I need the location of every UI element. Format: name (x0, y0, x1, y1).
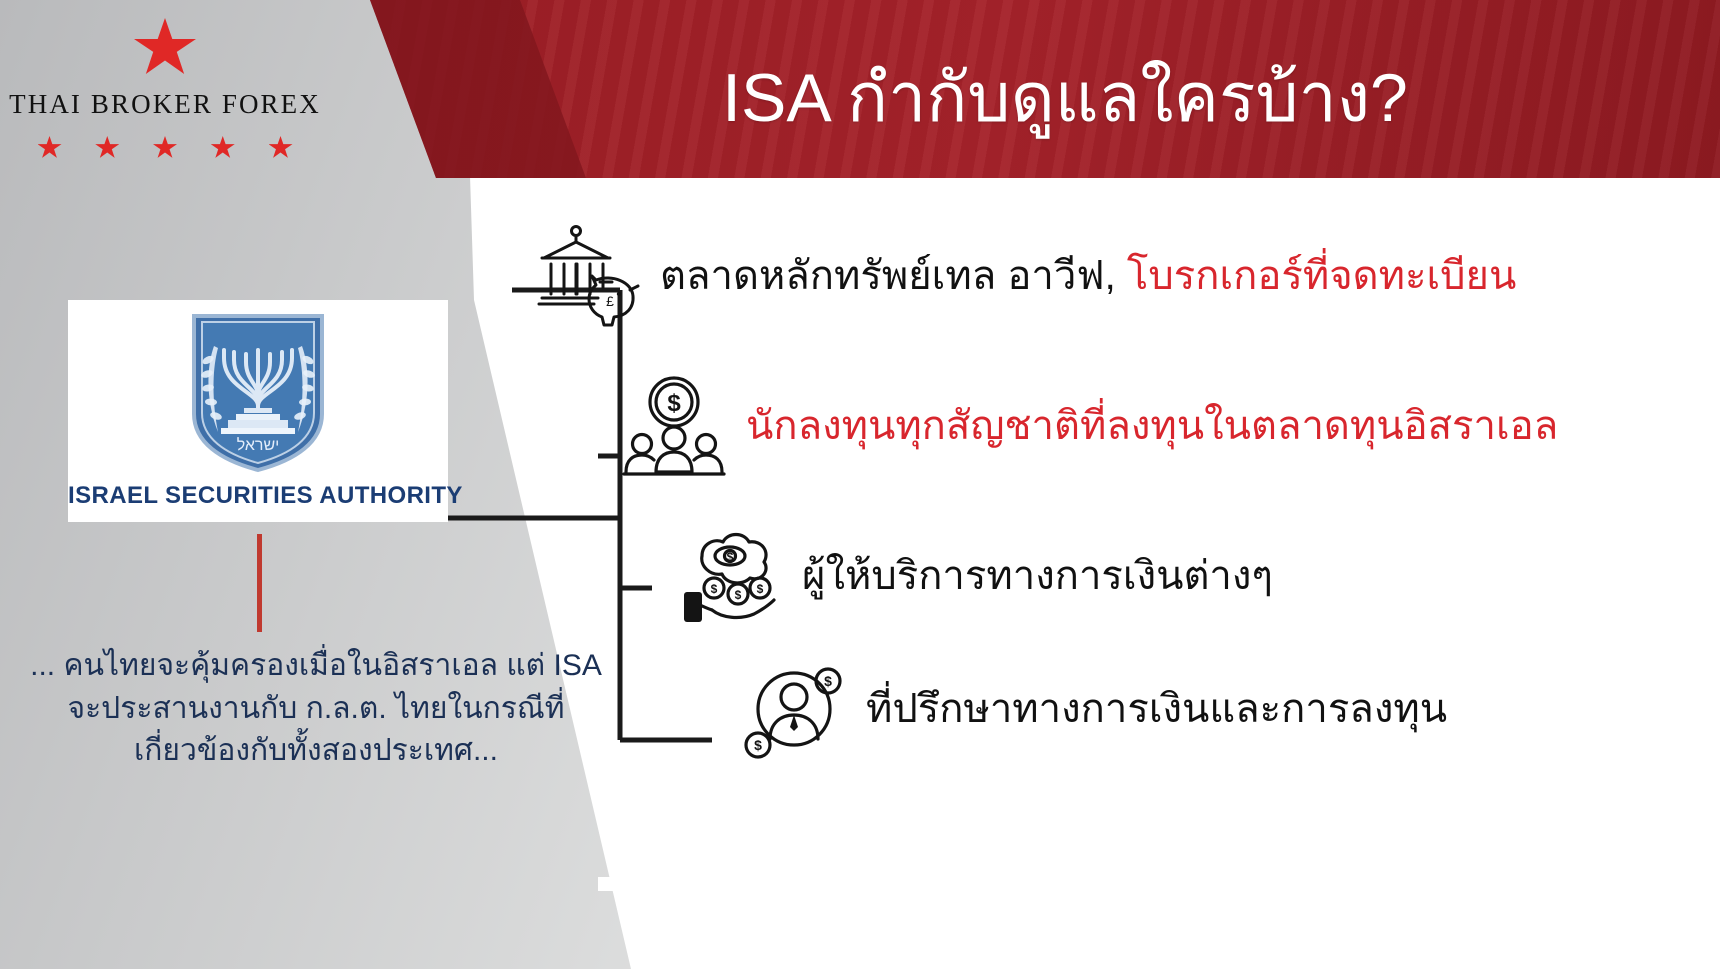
left-note: ... คนไทยจะคุ้มครองเมื่อในอิสราเอล แต่ I… (0, 645, 632, 773)
page-title: ISA กำกับดูแลใครบ้าง? (470, 48, 1660, 148)
left-note-line-1: ... คนไทยจะคุ้มครองเมื่อในอิสราเอล แต่ I… (0, 645, 632, 688)
star-icon (95, 136, 119, 159)
brand-name: THAI BROKER FOREX (9, 89, 321, 120)
star-icon (269, 136, 293, 159)
isa-logo-card: ישראל ISRAEL SECURITIES AUTHORITY (68, 300, 448, 522)
list-item: $ $ ที่ปรึกษาทางการเงินและการลงทุน (740, 655, 1447, 763)
svg-text:$: $ (711, 582, 718, 596)
left-note-line-2: จะประสานงานกับ ก.ล.ต. ไทยในกรณีที่ (0, 688, 632, 731)
israel-state-emblem-icon: ישראל (184, 310, 332, 476)
brand-logo: THAI BROKER FOREX (0, 8, 330, 158)
svg-text:$: $ (735, 588, 742, 602)
list-item: $ นักลงทุนทุกสัญชาติที่ลงทุนในตลาดทุนอิส… (620, 372, 1558, 480)
list-item: $ $ $ $ ผู้ให้บริการทางการเงินต่างๆ (676, 522, 1273, 630)
list-item-text-black: ตลาดหลักทรัพย์เทล อาวีฟ, (660, 254, 1116, 298)
footer-white-strip (598, 877, 1720, 891)
list-item-text-red: โบรกเกอร์ที่จดทะเบียน (1127, 254, 1516, 298)
svg-text:$: $ (824, 673, 832, 689)
star-icon (38, 136, 62, 159)
brand-star-rating (38, 136, 293, 159)
isa-caption: ISRAEL SECURITIES AUTHORITY (68, 482, 448, 510)
svg-text:$: $ (667, 390, 681, 417)
svg-text:$: $ (727, 550, 734, 564)
star-icon (211, 136, 235, 159)
star-icon (153, 136, 177, 159)
list-item: £ ตลาดหลักทรัพย์เทล อาวีฟ, โบรกเกอร์ที่จ… (534, 222, 1516, 330)
list-item-text: นักลงทุนทุกสัญชาติที่ลงทุนในตลาดทุนอิสรา… (746, 401, 1558, 451)
list-item-text: ตลาดหลักทรัพย์เทล อาวีฟ, โบรกเกอร์ที่จดท… (660, 251, 1516, 301)
star-icon (134, 18, 196, 77)
svg-text:$: $ (754, 737, 762, 753)
isa-connector-stem (257, 534, 262, 632)
list-item-text: ผู้ให้บริการทางการเงินต่างๆ (802, 551, 1273, 601)
emblem-hebrew-text: ישראל (237, 436, 280, 454)
infographic-canvas: THAI BROKER FOREX ISA กำกับดูแลใครบ้าง? (0, 0, 1720, 969)
svg-text:$: $ (757, 582, 764, 596)
investors-group-dollar-icon: $ (620, 372, 728, 480)
financial-services-hand-coins-icon: $ $ $ $ (676, 522, 784, 630)
financial-advisor-person-icon: $ $ (740, 655, 848, 763)
list-item-text: ที่ปรึกษาทางการเงินและการลงทุน (866, 684, 1447, 734)
svg-text:£: £ (606, 293, 614, 309)
left-note-line-3: เกี่ยวข้องกับทั้งสองประเทศ... (0, 730, 632, 773)
bank-piggy-bank-icon: £ (534, 222, 642, 330)
